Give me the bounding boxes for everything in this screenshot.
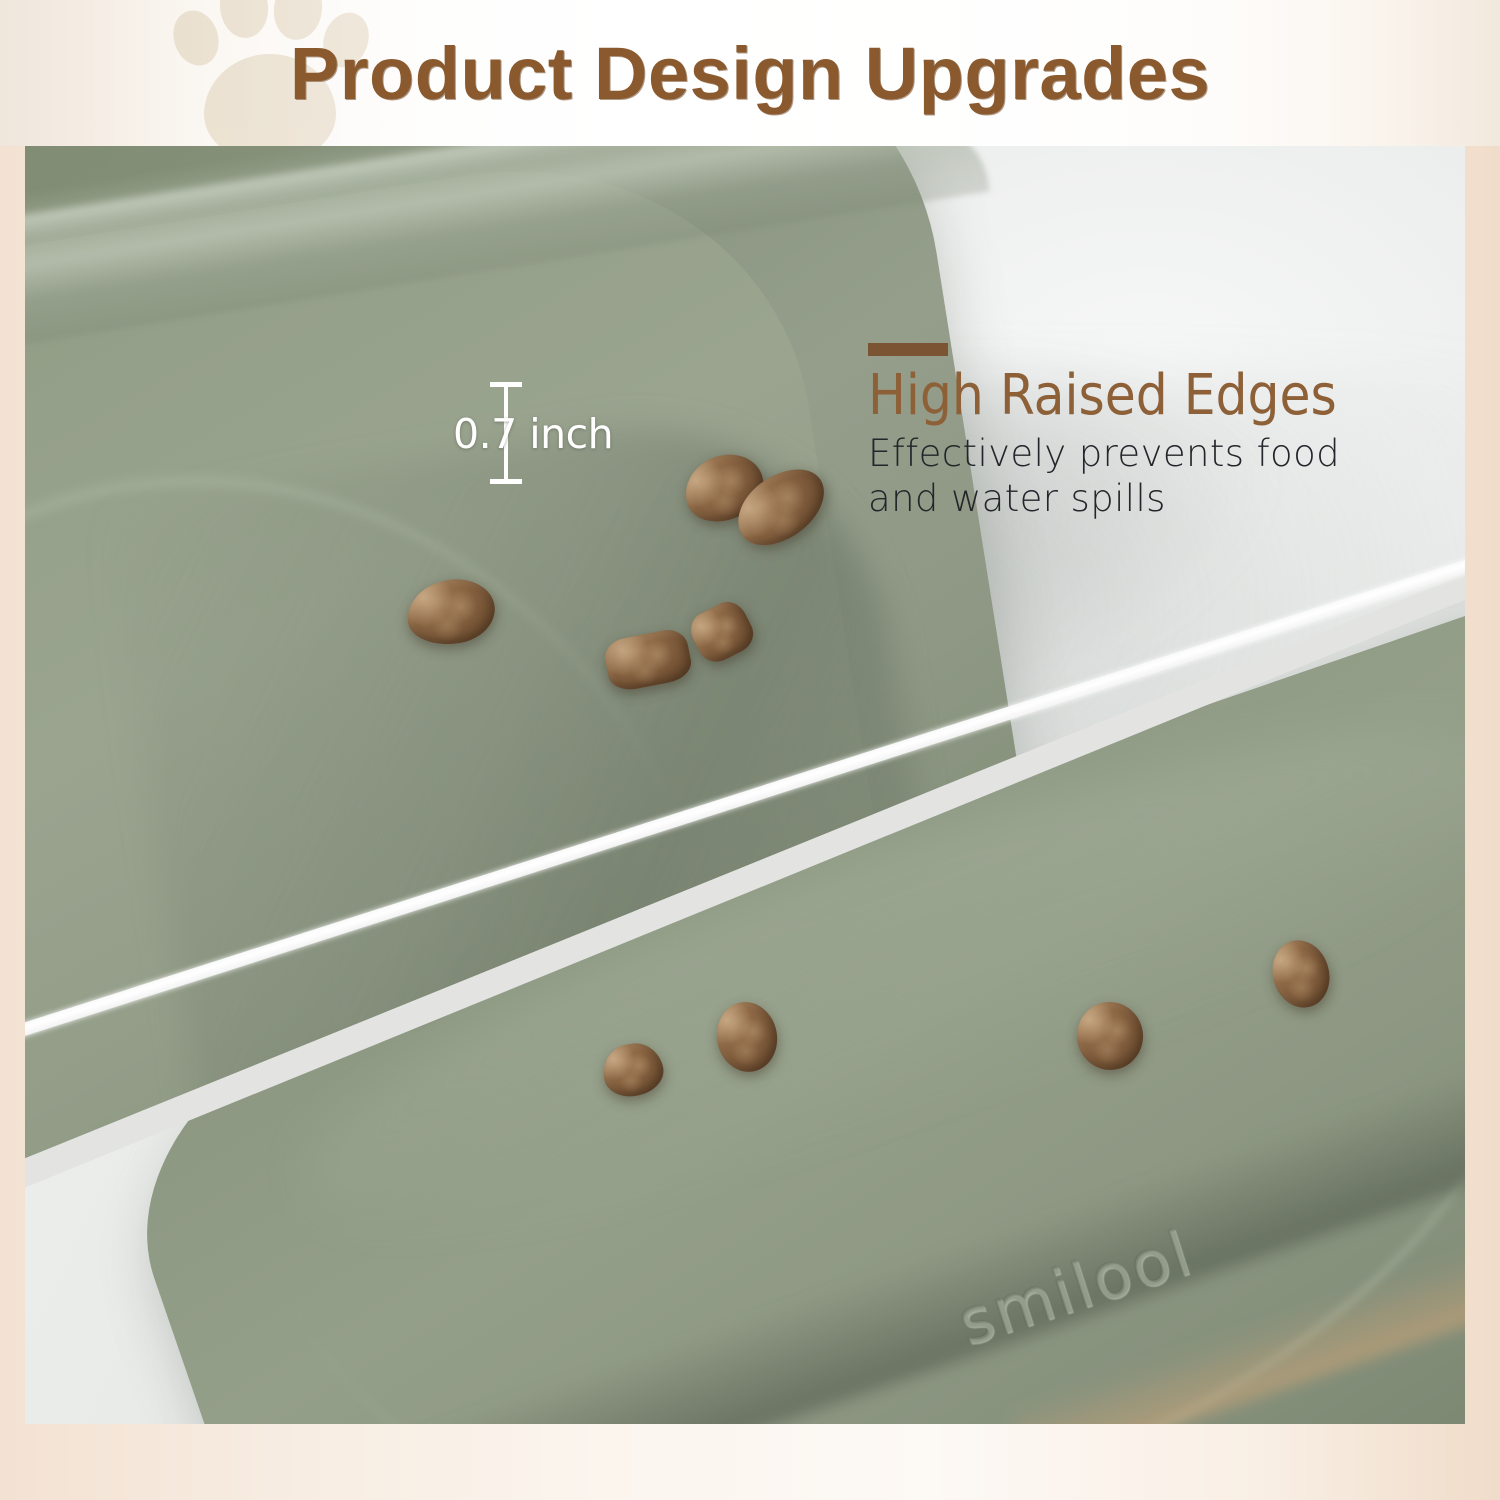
callout-subtitle: Effectively prevents food and water spil… bbox=[868, 431, 1340, 521]
callout-high-raised-edges: High Raised Edges Effectively prevents f… bbox=[868, 343, 1340, 522]
callout-subtitle-line: Effectively prevents food bbox=[868, 431, 1340, 476]
callout-subtitle-line: and water spills bbox=[868, 476, 1340, 521]
callout-title: High Raised Edges bbox=[868, 366, 1340, 425]
callout-accent-bar bbox=[868, 343, 948, 356]
dimension-annotation: 0.7 inch bbox=[449, 378, 609, 490]
header-band: Product Design Upgrades bbox=[0, 0, 1500, 146]
dimension-label: 0.7 inch bbox=[453, 410, 613, 458]
dimension-cap-bottom-icon bbox=[490, 479, 522, 484]
infographic-page: Product Design Upgrades bbox=[0, 0, 1500, 1500]
product-photo-frame: smilool 0.7 inch High Raised Edges Effec… bbox=[25, 146, 1465, 1424]
page-title: Product Design Upgrades bbox=[0, 0, 1500, 146]
